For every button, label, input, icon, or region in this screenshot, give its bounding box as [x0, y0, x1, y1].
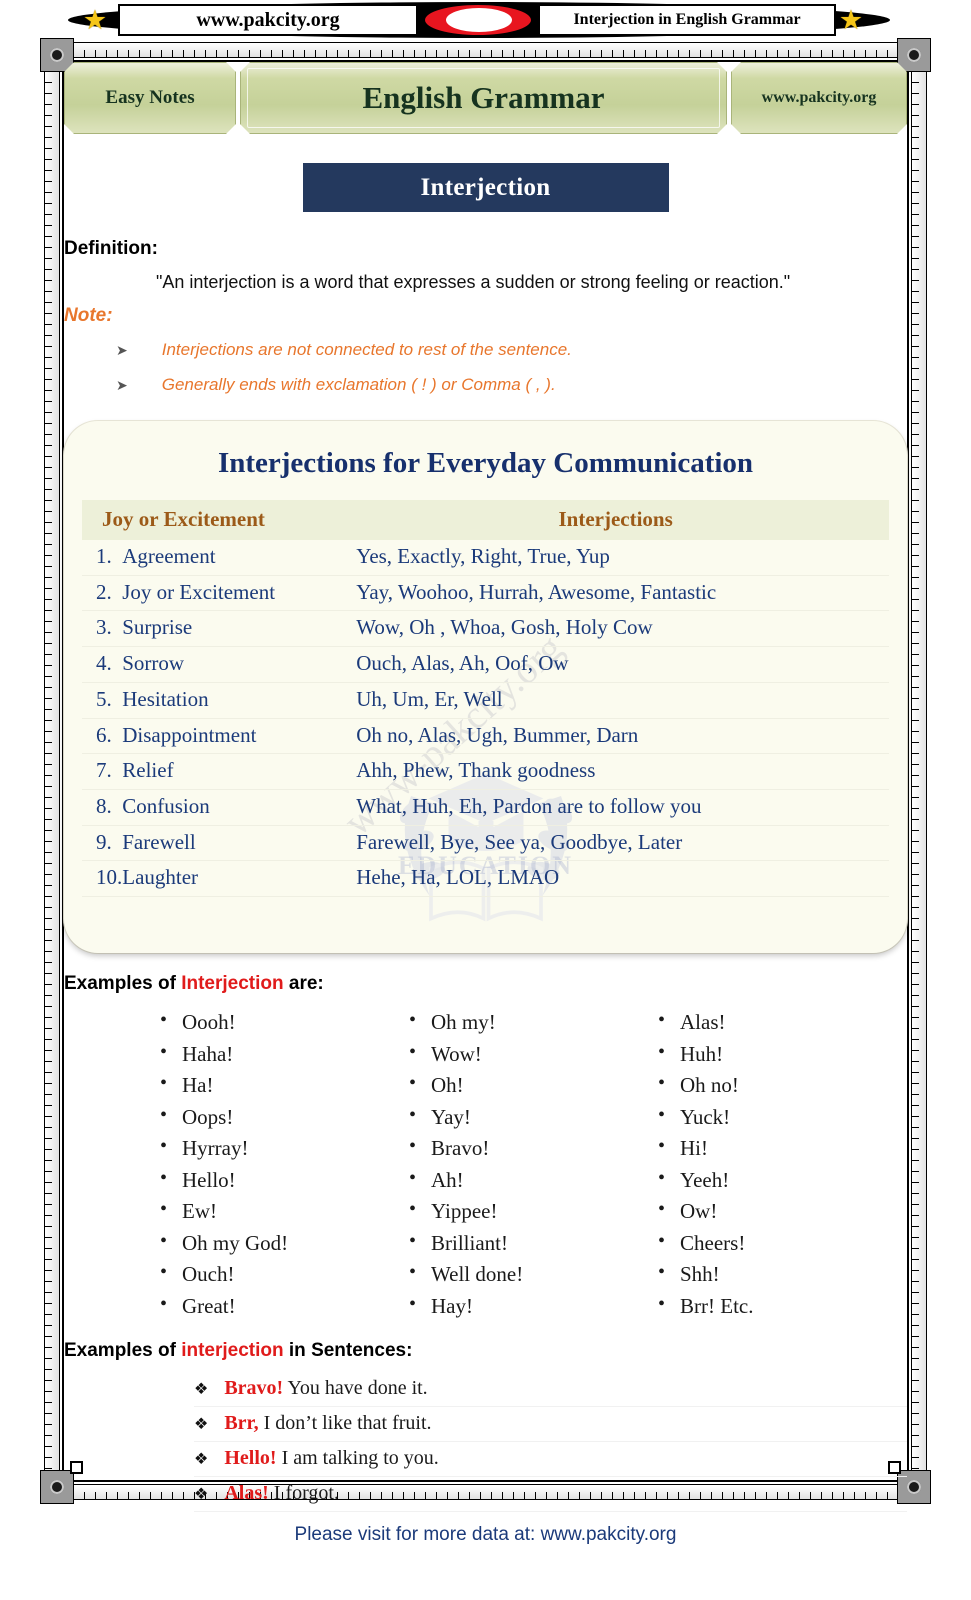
row-values: Wow, Oh , Whoa, Gosh, Holy Cow: [342, 611, 889, 647]
sentence-text: I don’t like that fruit.: [259, 1412, 432, 1434]
row-values: Yes, Exactly, Right, True, Yup: [342, 540, 889, 575]
table-row: 8. Confusion What, Huh, Eh, Pardon are t…: [82, 790, 889, 826]
diamond-bullet-icon: ❖: [194, 1485, 208, 1505]
ruler-right: [911, 48, 927, 1494]
list-item: Ouch!: [160, 1259, 409, 1291]
table-body: 1. Agreement Yes, Exactly, Right, True, …: [82, 540, 889, 897]
list-item: Well done!: [409, 1259, 658, 1291]
row-category: Sorrow: [122, 647, 342, 683]
note-heading: Note:: [64, 305, 907, 327]
sentence-item: ❖ Hello! I am talking to you.: [194, 1442, 907, 1477]
sentences-heading-highlight: interjection: [181, 1340, 283, 1361]
diamond-bullet-icon: ❖: [194, 1450, 208, 1470]
oval-badge-inner: [446, 8, 512, 32]
list-item: Huh!: [658, 1039, 907, 1071]
examples-heading-pre: Examples of: [64, 973, 181, 994]
list-item: Ow!: [658, 1196, 907, 1228]
definition-text: "An interjection is a word that expresse…: [156, 266, 896, 299]
ribbon-subject-label: English Grammar: [363, 80, 605, 116]
sentences-heading-pre: Examples of: [64, 1340, 181, 1361]
banner-site-label: www.pakcity.org: [118, 4, 418, 36]
ruler-left: [44, 48, 60, 1494]
note-item: ➤ Interjections are not connected to res…: [116, 333, 907, 368]
note-item-text: Interjections are not connected to rest …: [162, 333, 572, 368]
table-row: 1. Agreement Yes, Exactly, Right, True, …: [82, 540, 889, 575]
row-category: Surprise: [122, 611, 342, 647]
row-values: Oh no, Alas, Ugh, Bummer, Darn: [342, 718, 889, 754]
row-category: Hesitation: [122, 682, 342, 718]
list-item: Oooh!: [160, 1007, 409, 1039]
list-item: Shh!: [658, 1259, 907, 1291]
row-values: Yay, Woohoo, Hurrah, Awesome, Fantastic: [342, 575, 889, 611]
table-row: 5. Hesitation Uh, Um, Er, Well: [82, 682, 889, 718]
row-values: Ouch, Alas, Ah, Oof, Ow: [342, 647, 889, 683]
row-number: 7.: [82, 754, 122, 790]
table-row: 4. Sorrow Ouch, Alas, Ah, Oof, Ow: [82, 647, 889, 683]
page-content: Easy Notes English Grammar www.pakcity.o…: [64, 62, 907, 1480]
row-category: Relief: [122, 754, 342, 790]
row-values: Farewell, Bye, See ya, Goodbye, Later: [342, 825, 889, 861]
row-values: Uh, Um, Er, Well: [342, 682, 889, 718]
list-item: Oh my!: [409, 1007, 658, 1039]
examples-column-2: Oh my! Wow! Oh! Yay! Bravo! Ah! Yippee! …: [409, 1007, 658, 1322]
table-header-row: Joy or Excitement Interjections: [82, 500, 889, 540]
row-number: 6.: [82, 718, 122, 754]
card-title: Interjections for Everyday Communication: [82, 447, 889, 480]
table-row: 7. Relief Ahh, Phew, Thank goodness: [82, 754, 889, 790]
list-item: Cheers!: [658, 1228, 907, 1260]
footer-text: Please visit for more data at: www.pakci…: [0, 1524, 971, 1546]
row-values: Ahh, Phew, Thank goodness: [342, 754, 889, 790]
arrow-bullet-icon: ➤: [116, 336, 128, 365]
table-row: 9. Farewell Farewell, Bye, See ya, Goodb…: [82, 825, 889, 861]
table-header-category: Joy or Excitement: [82, 500, 342, 540]
diamond-bullet-icon: ❖: [194, 1415, 208, 1435]
examples-heading: Examples of Interjection are:: [64, 973, 907, 995]
sentence-text: I forgot.: [269, 1482, 339, 1504]
arrow-bullet-icon: ➤: [116, 371, 128, 400]
list-item: Haha!: [160, 1039, 409, 1071]
row-number: 10.: [82, 861, 122, 897]
note-item-text: Generally ends with exclamation ( ! ) or…: [162, 368, 556, 403]
table-header-interjections: Interjections: [342, 500, 889, 540]
star-icon: ★: [838, 8, 864, 34]
ribbon-easy-notes: Easy Notes: [64, 62, 236, 134]
diamond-bullet-icon: ❖: [194, 1380, 208, 1400]
row-category: Disappointment: [122, 718, 342, 754]
row-number: 5.: [82, 682, 122, 718]
list-item: Hay!: [409, 1291, 658, 1323]
banner-topic-label: Interjection in English Grammar: [538, 4, 836, 36]
ribbon-website-label: www.pakcity.org: [762, 89, 877, 107]
list-item: Hyrray!: [160, 1133, 409, 1165]
table-row: 3. Surprise Wow, Oh , Whoa, Gosh, Holy C…: [82, 611, 889, 647]
row-number: 9.: [82, 825, 122, 861]
sentence-keyword: Brr,: [224, 1412, 258, 1434]
row-category: Confusion: [122, 790, 342, 826]
ribbon-header: Easy Notes English Grammar www.pakcity.o…: [64, 62, 907, 134]
sentences-heading-post: in Sentences:: [284, 1340, 413, 1361]
sentence-item: ❖ Brr, I don’t like that fruit.: [194, 1407, 907, 1442]
sentence-text: You have done it.: [283, 1377, 427, 1399]
note-list: ➤ Interjections are not connected to res…: [116, 333, 907, 403]
list-item: Bravo!: [409, 1133, 658, 1165]
list-item: Wow!: [409, 1039, 658, 1071]
row-category: Farewell: [122, 825, 342, 861]
examples-heading-post: are:: [284, 973, 324, 994]
sentences-heading: Examples of interjection in Sentences:: [64, 1340, 907, 1362]
list-item: Ah!: [409, 1165, 658, 1197]
sentence-item: ❖ Alas! I forgot.: [194, 1477, 907, 1512]
list-item: Ew!: [160, 1196, 409, 1228]
interjections-table: Joy or Excitement Interjections 1. Agree…: [82, 500, 889, 897]
row-category: Agreement: [122, 540, 342, 575]
row-number: 4.: [82, 647, 122, 683]
examples-column-1: Oooh! Haha! Ha! Oops! Hyrray! Hello! Ew!…: [160, 1007, 409, 1322]
ribbon-subject-title: English Grammar: [240, 62, 727, 134]
row-number: 1.: [82, 540, 122, 575]
examples-columns: Oooh! Haha! Ha! Oops! Hyrray! Hello! Ew!…: [64, 1007, 907, 1322]
list-item: Great!: [160, 1291, 409, 1323]
ribbon-easy-notes-label: Easy Notes: [105, 87, 194, 109]
list-item: Brr! Etc.: [658, 1291, 907, 1323]
row-number: 2.: [82, 575, 122, 611]
examples-column-3: Alas! Huh! Oh no! Yuck! Hi! Yeeh! Ow! Ch…: [658, 1007, 907, 1322]
list-item: Oh no!: [658, 1070, 907, 1102]
list-item: Oops!: [160, 1102, 409, 1134]
list-item: Hi!: [658, 1133, 907, 1165]
row-values: What, Huh, Eh, Pardon are to follow you: [342, 790, 889, 826]
table-row: 10. Laughter Hehe, Ha, LOL, LMAO: [82, 861, 889, 897]
page-title: Interjection: [303, 163, 669, 212]
list-item: Hello!: [160, 1165, 409, 1197]
list-item: Alas!: [658, 1007, 907, 1039]
row-number: 3.: [82, 611, 122, 647]
list-item: Yeeh!: [658, 1165, 907, 1197]
interjections-card: EDUCATION pakcity.org www-pakcity.org In…: [64, 421, 907, 953]
sentences-list: ❖ Bravo! You have done it. ❖ Brr, I don’…: [194, 1372, 907, 1512]
row-category: Joy or Excitement: [122, 575, 342, 611]
list-item: Yuck!: [658, 1102, 907, 1134]
row-category: Laughter: [122, 861, 342, 897]
ruler-top: [50, 42, 921, 58]
list-item: Brilliant!: [409, 1228, 658, 1260]
ribbon-website: www.pakcity.org: [731, 62, 907, 134]
list-item: Yay!: [409, 1102, 658, 1134]
star-icon: ★: [82, 8, 108, 34]
sentence-item: ❖ Bravo! You have done it.: [194, 1372, 907, 1407]
list-item: Oh my God!: [160, 1228, 409, 1260]
page-title-wrap: Interjection: [64, 163, 907, 212]
row-values: Hehe, Ha, LOL, LMAO: [342, 861, 889, 897]
list-item: Ha!: [160, 1070, 409, 1102]
table-row: 2. Joy or Excitement Yay, Woohoo, Hurrah…: [82, 575, 889, 611]
list-item: Yippee!: [409, 1196, 658, 1228]
sentence-keyword: Hello!: [224, 1447, 276, 1469]
row-number: 8.: [82, 790, 122, 826]
list-item: Oh!: [409, 1070, 658, 1102]
top-banner-strip: ★ ★ www.pakcity.org Interjection in Engl…: [0, 0, 971, 40]
sentence-text: I am talking to you.: [277, 1447, 439, 1469]
definition-heading: Definition:: [64, 238, 907, 260]
sentence-keyword: Alas!: [224, 1482, 268, 1504]
note-item: ➤ Generally ends with exclamation ( ! ) …: [116, 368, 907, 403]
table-row: 6. Disappointment Oh no, Alas, Ugh, Bumm…: [82, 718, 889, 754]
sentence-keyword: Bravo!: [224, 1377, 283, 1399]
examples-heading-highlight: Interjection: [181, 973, 283, 994]
